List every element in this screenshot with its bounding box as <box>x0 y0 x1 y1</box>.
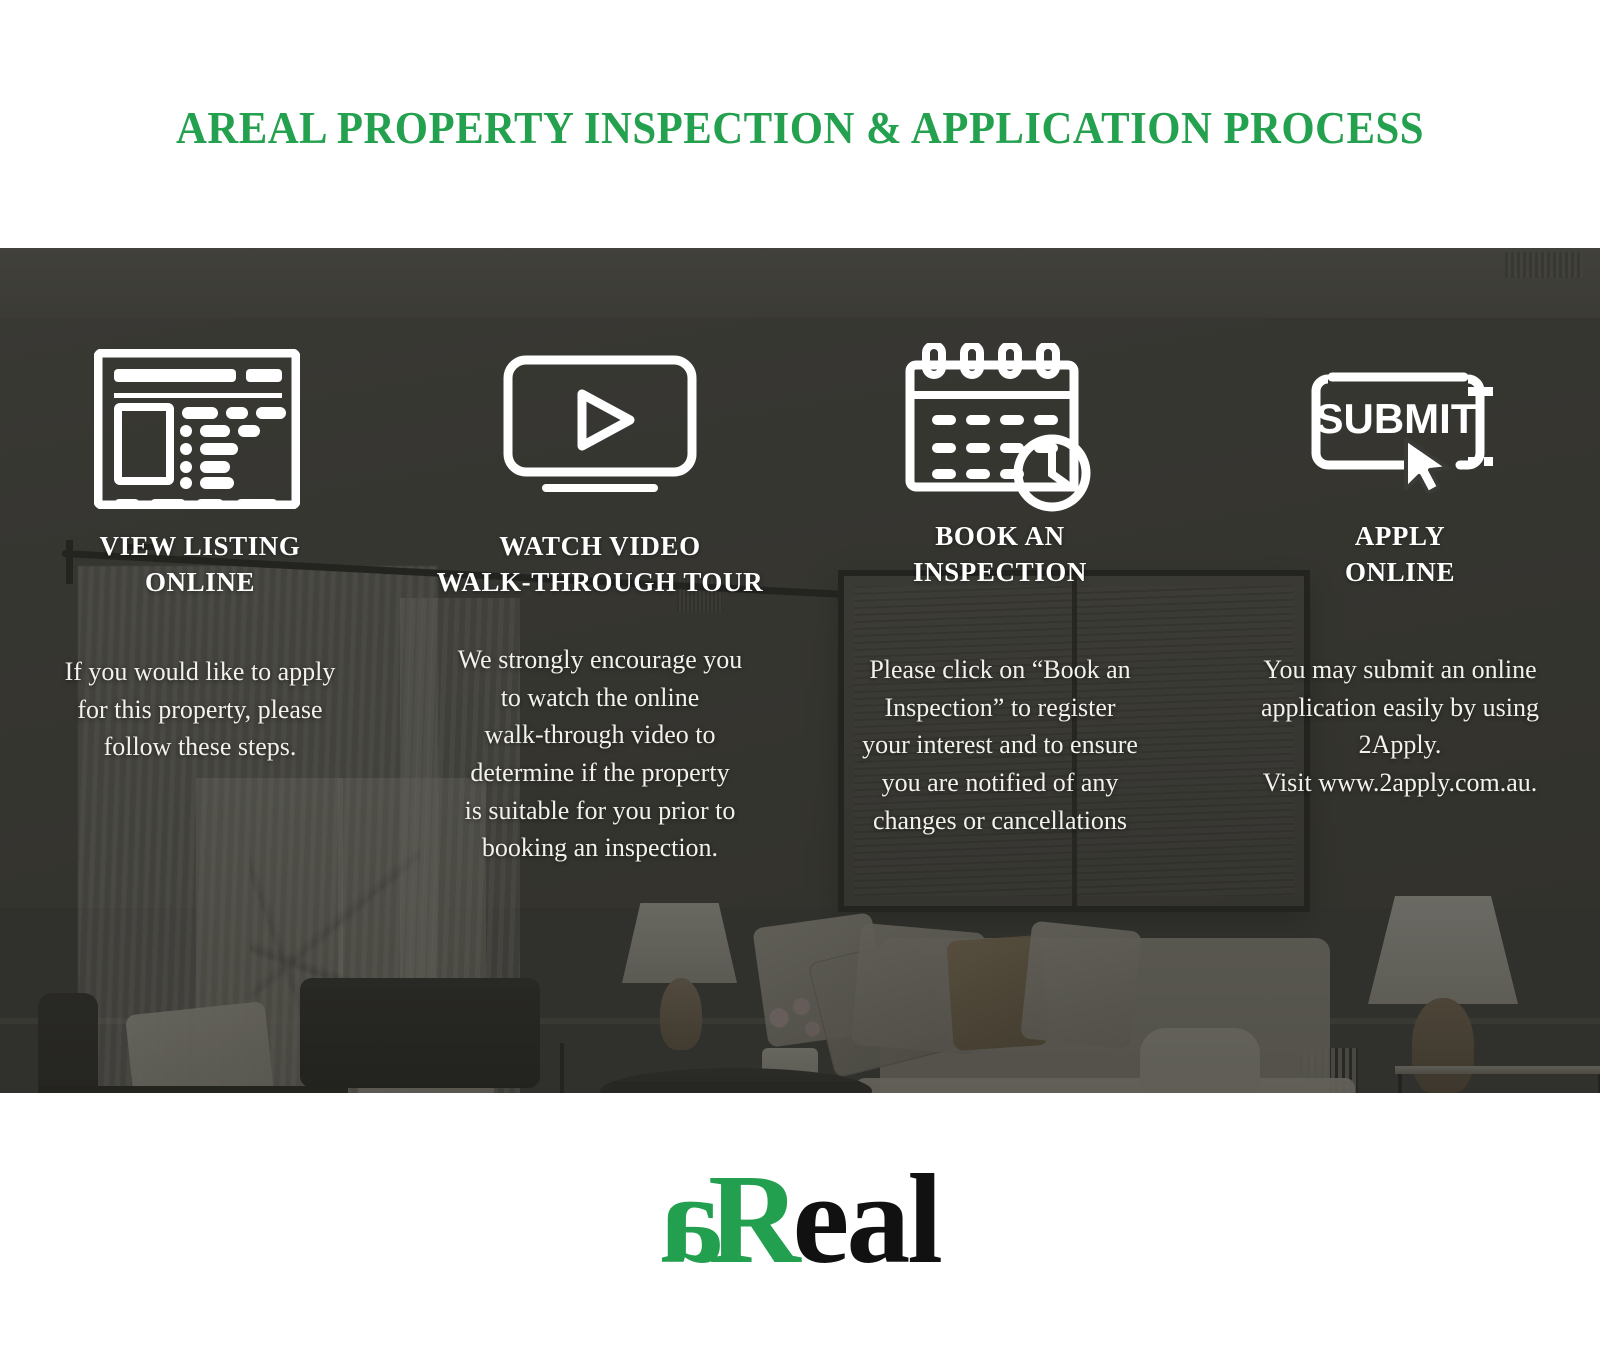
step-view-listing-online: VIEW LISTING ONLINE If you would like to… <box>0 248 400 1093</box>
page-title: AREAL PROPERTY INSPECTION & APPLICATION … <box>176 101 1424 154</box>
page-footer: a R eal <box>0 1093 1600 1345</box>
step-book-an-inspection: BOOK AN INSPECTION Please click on “Book… <box>800 248 1200 1093</box>
hero-photo-band: VIEW LISTING ONLINE If you would like to… <box>0 248 1600 1093</box>
listing-window-icon <box>94 344 300 514</box>
step-description: Please click on “Book an Inspection” to … <box>862 651 1138 839</box>
step-watch-video-walkthrough-tour: WATCH VIDEO WALK-THROUGH TOUR We strongl… <box>400 248 800 1093</box>
step-title: WATCH VIDEO WALK-THROUGH TOUR <box>437 528 764 601</box>
process-steps: VIEW LISTING ONLINE If you would like to… <box>0 248 1600 1093</box>
step-title: APPLY ONLINE <box>1345 518 1455 591</box>
step-description: You may submit an online application eas… <box>1261 651 1539 802</box>
page-header: AREAL PROPERTY INSPECTION & APPLICATION … <box>0 0 1600 248</box>
step-description: If you would like to apply for this prop… <box>65 653 336 766</box>
submit-icon-label: SUBMIT <box>1316 395 1477 442</box>
step-title: VIEW LISTING ONLINE <box>99 528 300 601</box>
logo-letters-eal: eal <box>793 1167 940 1272</box>
step-description: We strongly encourage you to watch the o… <box>458 641 743 867</box>
step-apply-online: SUBMIT APPLY ONLINE You may submit an on… <box>1200 248 1600 1093</box>
logo-mark-a: a <box>660 1167 724 1272</box>
submit-button-cursor-icon: SUBMIT <box>1302 344 1498 514</box>
calendar-clock-icon <box>902 344 1098 514</box>
areal-logo: a R eal <box>660 1167 940 1272</box>
step-title: BOOK AN INSPECTION <box>913 518 1087 591</box>
video-play-monitor-icon <box>502 344 698 514</box>
